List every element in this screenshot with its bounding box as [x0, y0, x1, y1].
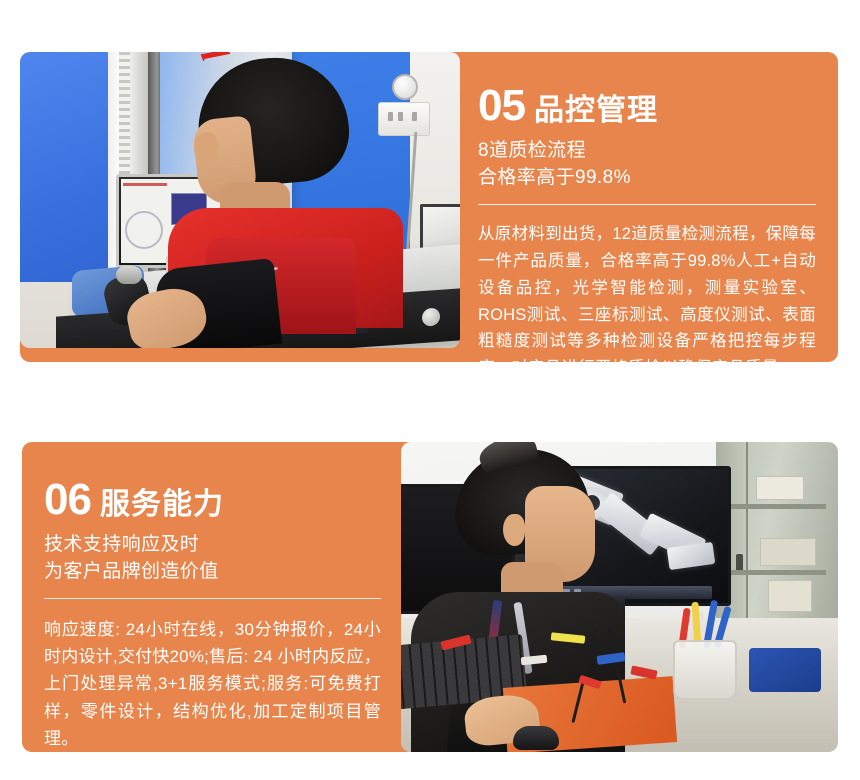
cabinet-box [756, 476, 804, 500]
card-05-title: 品控管理 [534, 96, 658, 126]
blue-panel [20, 52, 112, 282]
cabinet-box [760, 538, 816, 566]
engineering-support-photo [401, 442, 838, 752]
operator-ear [194, 132, 218, 166]
quality-inspection-photo: liang 川元明天地 V [20, 52, 460, 348]
blue-tool-case [749, 648, 821, 692]
card-06-body: 响应速度: 24小时在线，30分钟报价，24小时内设计,交付快20%;售后: 2… [44, 616, 381, 752]
cabinet-box [768, 580, 812, 612]
cabinet-shelf [728, 570, 826, 575]
card-quality-management: liang 川元明天地 V [20, 52, 838, 362]
card-service-capability: 06 服务能力 技术支持响应及时 为客户品牌创造价值 响应速度: 24小时在线，… [22, 442, 838, 752]
pen-holder [673, 640, 737, 700]
card-05-body: 从原材料到出货，12道质量检测流程，保障每一件产品质量，合格率高于99.8%人工… [478, 221, 816, 362]
card-06-number: 06 [44, 478, 91, 522]
card-05-divider [478, 204, 816, 205]
joystick-knob [116, 266, 142, 284]
card-06-subtitle-1: 技术支持响应及时 [44, 532, 381, 559]
card-06-title: 服务能力 [100, 490, 224, 520]
card-05-subtitles: 8道质检流程 合格率高于99.8% [478, 138, 816, 192]
card-06-divider [44, 598, 381, 599]
card-05-text: 05 品控管理 8道质检流程 合格率高于99.8% 从原材料到出货，12道质量检… [460, 52, 838, 362]
card-06-subtitle-2: 为客户品牌创造价值 [44, 559, 381, 586]
screen-measure-circle [125, 211, 163, 249]
card-05-number: 05 [478, 84, 525, 128]
card-05-subtitle-1: 8道质检流程 [478, 138, 816, 165]
card-06-text: 06 服务能力 技术支持响应及时 为客户品牌创造价值 响应速度: 24小时在线，… [22, 442, 401, 752]
computer-mouse [513, 726, 559, 750]
screen-toolbar [123, 183, 167, 186]
engineer-ear [503, 514, 525, 546]
card-06-subtitles: 技术支持响应及时 为客户品牌创造价值 [44, 532, 381, 586]
card-05-headline: 05 品控管理 [478, 84, 816, 128]
card-06-headline: 06 服务能力 [44, 478, 381, 522]
cabinet-shelf [728, 504, 826, 509]
operator-figure: V [172, 58, 402, 318]
card-05-subtitle-2: 合格率高于99.8% [478, 165, 816, 192]
